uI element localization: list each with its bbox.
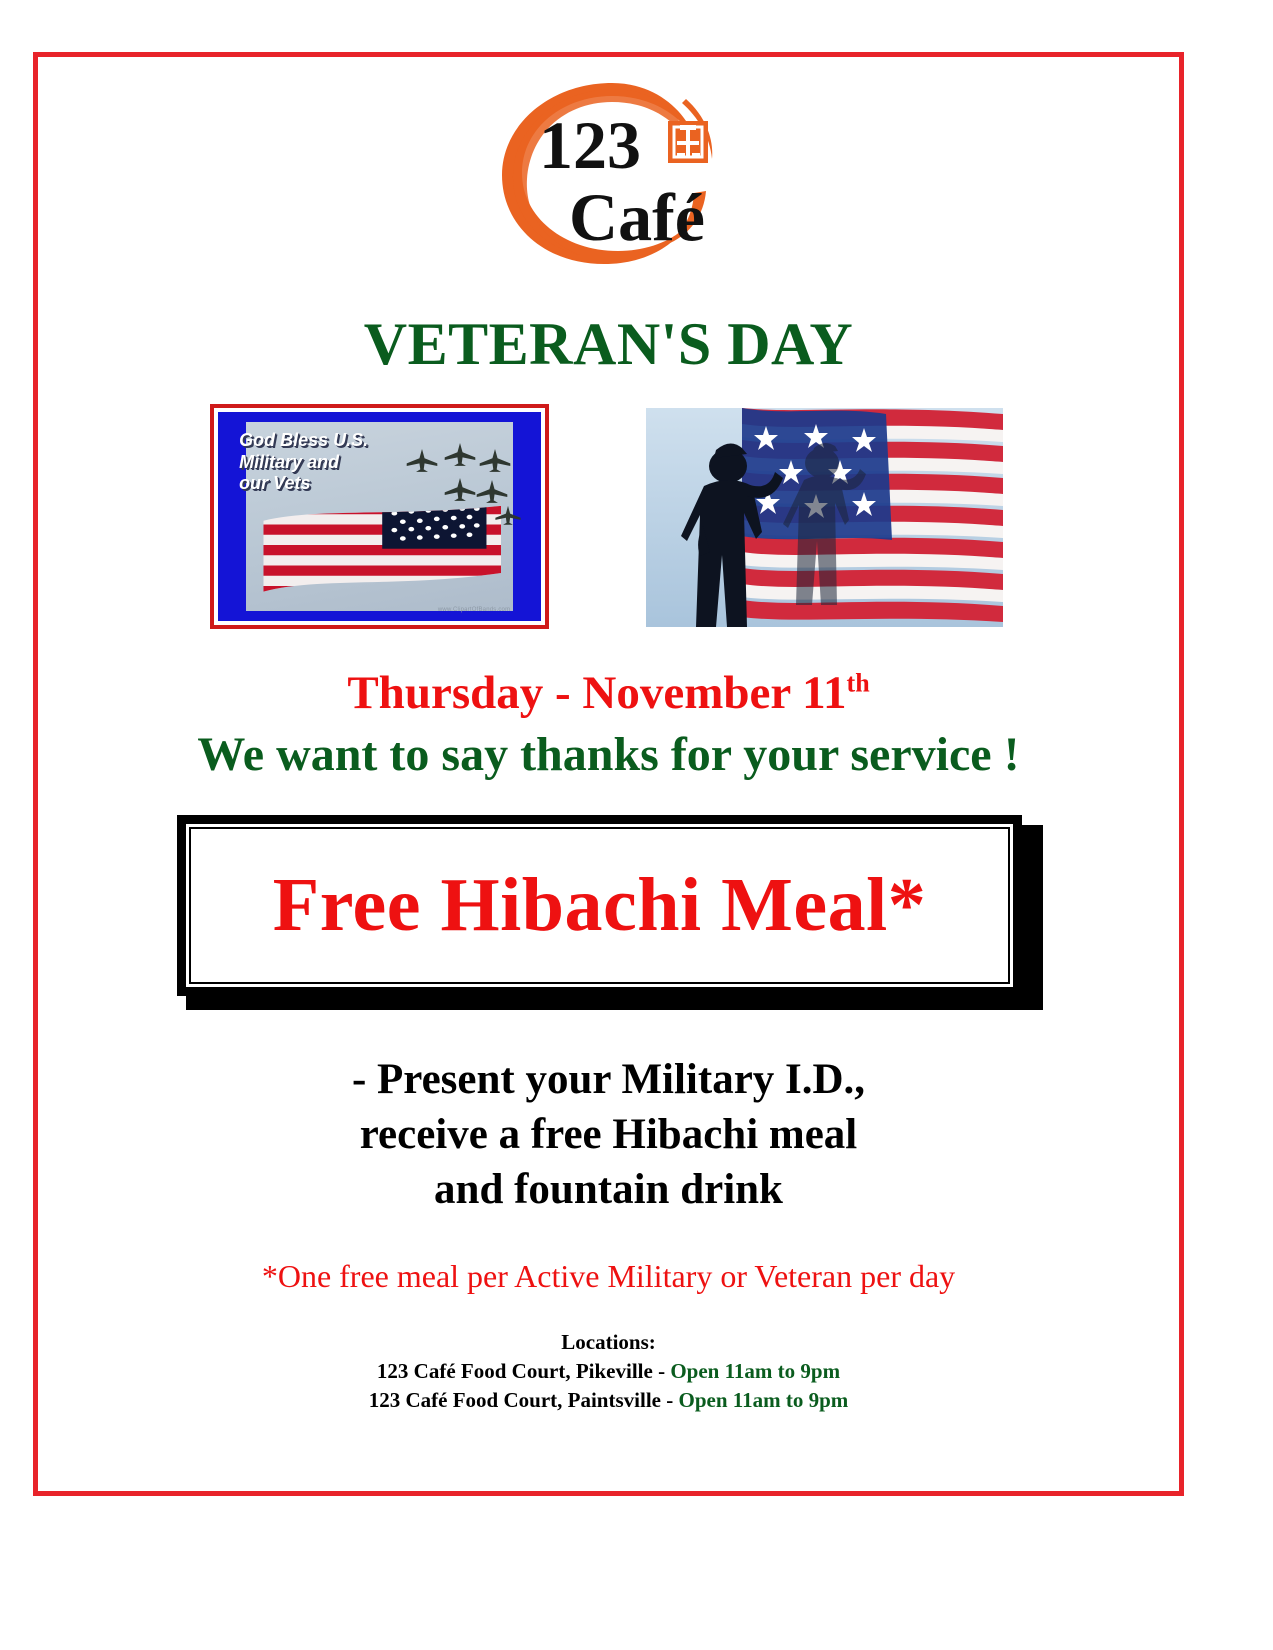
fighter-jet-icon <box>443 476 477 502</box>
logo-graphic: 123 Café <box>484 75 734 270</box>
fighter-jet-icon <box>443 441 477 467</box>
fighter-jet-icon <box>475 478 509 504</box>
flyer-content: 123 Café VETERAN'S DAY <box>38 57 1179 1491</box>
offer-headline: Free Hibachi Meal* <box>273 867 926 943</box>
condition-line: receive a free Hibachi meal <box>38 1107 1179 1162</box>
offer-box: Free Hibachi Meal* <box>177 815 1022 996</box>
condition-line: - Present your Military I.D., <box>38 1052 1179 1107</box>
location-hours: Open 11am to 9pm <box>670 1359 840 1383</box>
fighter-jet-icon <box>478 447 512 473</box>
flyer-page: 123 Café VETERAN'S DAY <box>0 0 1273 1650</box>
date-ordinal-suffix: th <box>847 668 870 697</box>
locations-block: Locations: 123 Café Food Court, Pikevill… <box>38 1328 1179 1415</box>
condition-line: and fountain drink <box>38 1162 1179 1217</box>
location-hours: Open 11am to 9pm <box>678 1388 848 1412</box>
fighter-jet-icon <box>494 504 522 526</box>
location-separator: - <box>653 1359 671 1383</box>
logo-word-text: Café <box>569 179 705 255</box>
location-name: 123 Café Food Court, Paintsville <box>369 1388 661 1412</box>
image-row: God Bless U.S. Military and our Vets <box>38 404 1179 636</box>
logo-number-text: 123 <box>539 107 641 183</box>
us-flag-icon <box>261 504 503 607</box>
event-date-text: Thursday - November 11 <box>347 667 846 719</box>
location-item: 123 Café Food Court, Pikeville - Open 11… <box>38 1357 1179 1386</box>
thanks-message: We want to say thanks for your service ! <box>38 730 1179 780</box>
image-watermark: www.ClipartOfBands.com <box>438 607 510 613</box>
logo-mark-icon <box>668 121 708 163</box>
event-date: Thursday - November 11th <box>38 669 1179 718</box>
offer-box-inner: Free Hibachi Meal* <box>189 827 1010 984</box>
locations-heading: Locations: <box>38 1328 1179 1357</box>
location-name: 123 Café Food Court, Pikeville <box>377 1359 653 1383</box>
offer-area: Free Hibachi Meal* <box>38 809 1179 1024</box>
location-separator: - <box>661 1388 679 1412</box>
brand-logo: 123 Café <box>38 57 1179 272</box>
image-caption-text: God Bless U.S. Military and our Vets <box>239 430 418 494</box>
location-item: 123 Café Food Court, Paintsville - Open … <box>38 1386 1179 1415</box>
saluting-soldiers-image <box>646 408 1003 627</box>
offer-conditions: - Present your Military I.D., receive a … <box>38 1052 1179 1217</box>
page-title: VETERAN'S DAY <box>38 314 1179 374</box>
offer-footnote: *One free meal per Active Military or Ve… <box>38 1259 1179 1294</box>
god-bless-military-image: God Bless U.S. Military and our Vets <box>210 404 549 629</box>
